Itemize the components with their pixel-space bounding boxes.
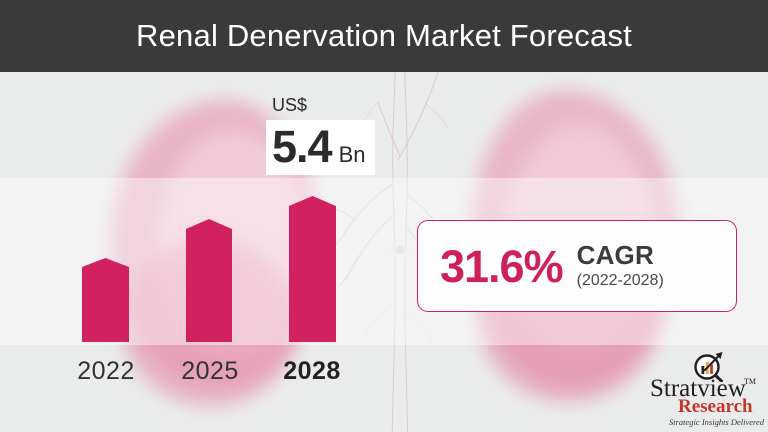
bar-2028 — [289, 196, 336, 342]
page-title: Renal Denervation Market Forecast — [136, 18, 632, 54]
cagr-label: CAGR — [577, 242, 664, 269]
bar-label-2028: 2028 — [266, 357, 358, 386]
value-box: 5.4 Bn — [266, 120, 375, 175]
cagr-callout-box: 31.6% CAGR (2022-2028) — [417, 220, 737, 312]
market-value-callout: US$ 5.4 Bn — [266, 96, 390, 175]
currency-label: US$ — [266, 96, 390, 114]
bar-label-2022: 2022 — [60, 357, 152, 386]
logo-name-secondary: Research — [678, 397, 753, 416]
cagr-period: (2022-2028) — [577, 271, 664, 290]
cagr-text-group: CAGR (2022-2028) — [577, 242, 664, 290]
bar-2022 — [82, 258, 129, 342]
market-value: 5.4 — [272, 124, 332, 169]
logo-tagline: Strategic Insights Delivered — [669, 417, 764, 427]
cagr-value: 31.6% — [440, 244, 563, 289]
infographic-canvas: Renal Denervation Market Forecast 2022 2… — [0, 0, 768, 432]
header-bar: Renal Denervation Market Forecast — [0, 0, 768, 72]
bar-2025 — [186, 219, 232, 342]
market-value-unit: Bn — [339, 144, 366, 166]
stratview-research-logo: Stratview TM Research Strategic Insights… — [650, 350, 768, 428]
logo-trademark: TM — [744, 377, 756, 386]
bar-label-2025: 2025 — [164, 357, 256, 386]
